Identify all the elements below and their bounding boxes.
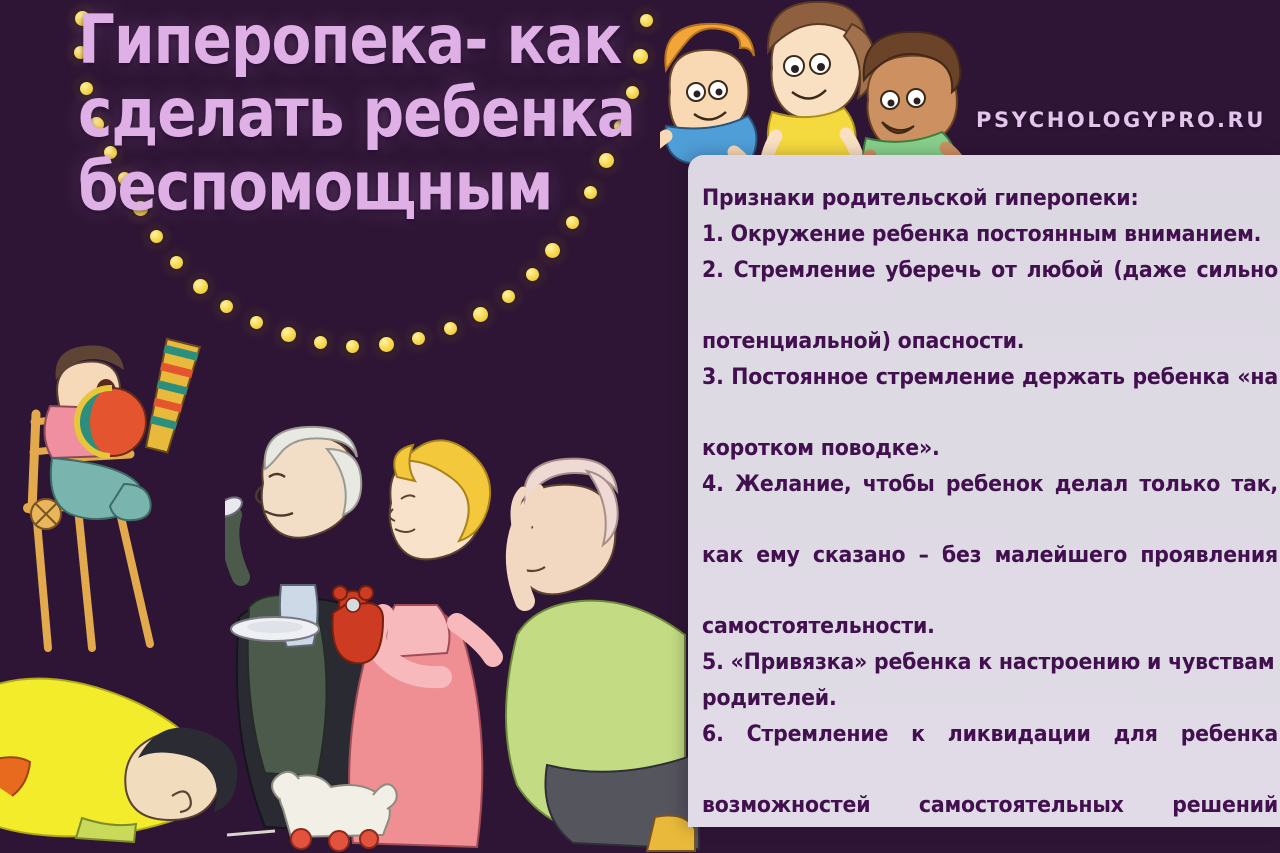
- garland-dot: [150, 230, 163, 243]
- garland-dot: [379, 337, 394, 352]
- list-item-4-l2: как ему сказано – без малейшего проявлен…: [702, 536, 1278, 612]
- list-item-2-l1: 2. Стремление уберечь от любой (даже сил…: [702, 251, 1278, 327]
- garland-dot: [526, 268, 539, 281]
- person-bowing-illustration: [0, 600, 290, 853]
- garland-dot: [281, 327, 296, 342]
- page-title: Гиперопека- как сделать ребенка беспомощ…: [78, 4, 678, 223]
- panel-heading: Признаки родительской гиперопеки:: [702, 179, 1278, 217]
- garland-dot: [545, 243, 560, 258]
- signs-panel-content: Признаки родительской гиперопеки: 1. Окр…: [688, 155, 1280, 827]
- list-item-2-l2: потенциальной) опасности.: [702, 322, 1278, 360]
- garland-dot: [473, 307, 488, 322]
- list-item-1: 1. Окружение ребенка постоянным внимание…: [702, 215, 1278, 253]
- garland-dot: [193, 279, 208, 294]
- list-item-4-l3: самостоятельности.: [702, 607, 1278, 645]
- watermark-site-url: PSYCHOLOGYPRO.RU: [976, 108, 1266, 132]
- garland-dot: [314, 336, 327, 349]
- three-children-illustration: [660, 0, 1010, 181]
- list-item-3-l2: коротком поводке».: [702, 429, 1278, 467]
- list-item-6-l1: 6. Стремление к ликвидации для ребенка: [702, 715, 1278, 791]
- poster-root: Гиперопека- как сделать ребенка беспомощ…: [0, 0, 1280, 853]
- garland-dot: [220, 300, 233, 313]
- list-item-3-l1: 3. Постоянное стремление держать ребенка…: [702, 358, 1278, 434]
- garland-dot: [170, 256, 183, 269]
- garland-dot: [412, 332, 425, 345]
- garland-dot: [502, 290, 515, 303]
- list-item-6-l2: возможностей самостоятельных решений: [702, 786, 1278, 827]
- list-item-4-l1: 4. Желание, чтобы ребенок делал только т…: [702, 465, 1278, 541]
- garland-dot: [250, 316, 263, 329]
- overprotective-family-illustration: [225, 425, 700, 853]
- list-item-5-l2: родителей.: [702, 679, 1278, 717]
- garland-dot: [346, 340, 359, 353]
- list-item-5-l1: 5. «Привязка» ребенка к настроению и чув…: [702, 643, 1278, 681]
- signs-panel: Признаки родительской гиперопеки: 1. Окр…: [688, 155, 1280, 827]
- garland-dot: [444, 322, 457, 335]
